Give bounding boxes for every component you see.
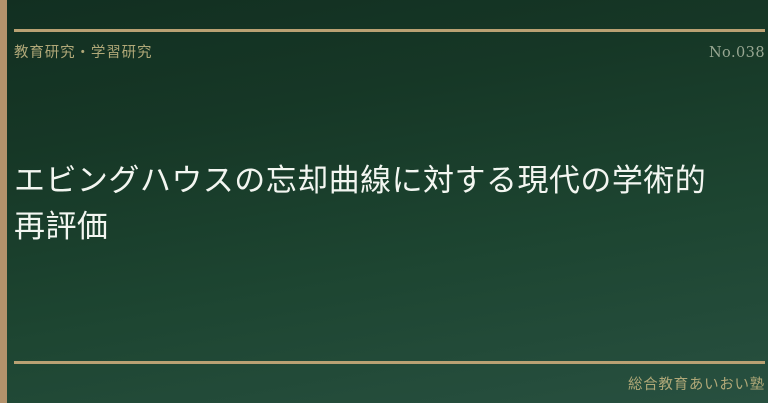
title-line-2: 再評価 [14, 204, 754, 250]
slide-footer: 総合教育あいおい塾 [14, 361, 765, 399]
footer-row: 総合教育あいおい塾 [14, 373, 765, 394]
brand-name: 総合教育あいおい塾 [628, 373, 765, 394]
category-label: 教育研究・学習研究 [14, 41, 152, 62]
header-row: 教育研究・学習研究 No.038 [14, 41, 765, 62]
issue-number: No.038 [709, 45, 765, 61]
left-accent-strip [0, 0, 7, 403]
header-divider-rule [14, 29, 765, 32]
title-slide: 教育研究・学習研究 No.038 エビングハウスの忘却曲線に対する現代の学術的 … [0, 0, 768, 403]
title-line-1: エビングハウスの忘却曲線に対する現代の学術的 [14, 158, 754, 204]
footer-divider-rule [14, 361, 765, 364]
slide-header: 教育研究・学習研究 No.038 [14, 29, 765, 69]
page-title: エビングハウスの忘却曲線に対する現代の学術的 再評価 [14, 158, 754, 250]
